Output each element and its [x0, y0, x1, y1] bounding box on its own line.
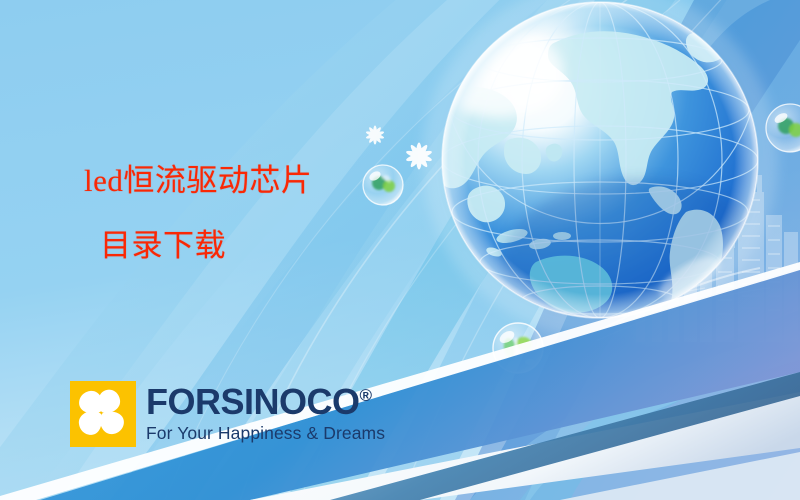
brand-name-text: FORSINOCO	[146, 381, 360, 422]
logo-text-block: FORSINOCO® For Your Happiness & Dreams	[146, 381, 385, 443]
forsinoco-pinwheel-mark-icon	[70, 381, 136, 447]
brand-name: FORSINOCO®	[146, 384, 385, 420]
company-logo[interactable]: FORSINOCO® For Your Happiness & Dreams	[70, 381, 385, 447]
brand-tagline: For Your Happiness & Dreams	[146, 423, 385, 443]
promotional-banner: led恒流驱动芯片 目录下载 FORSINOCO® For Your Happi…	[0, 0, 800, 500]
registered-trademark-symbol: ®	[360, 386, 373, 405]
bubble-globe-left	[363, 165, 403, 205]
